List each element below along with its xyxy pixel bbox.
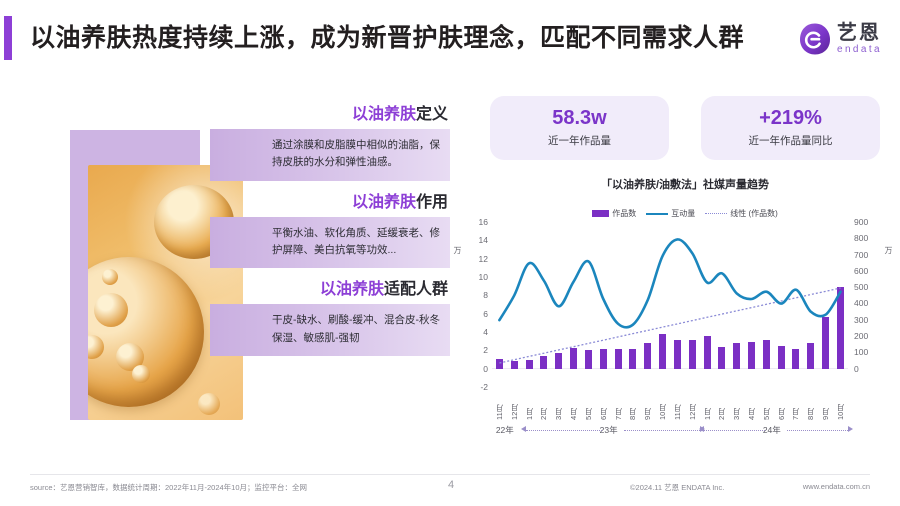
x-tick-label: 6月: [596, 390, 611, 420]
info-block-definition: 以油养肤定义 通过涂膜和皮脂膜中相似的油脂，保持皮肤的水分和弹性油感。: [210, 100, 450, 181]
x-tick-label: 1月: [700, 390, 715, 420]
chart-plot-area: [492, 222, 848, 387]
info-blocks: 以油养肤定义 通过涂膜和皮脂膜中相似的油脂，保持皮肤的水分和弹性油感。 以油养肤…: [210, 100, 450, 363]
y-axis-right-ticks: 9008007006005004003002001000: [850, 222, 876, 387]
title-accent-bar: [4, 16, 12, 60]
logo-text: 艺恩 endata: [837, 23, 882, 55]
x-tick-label: 3月: [729, 390, 744, 420]
x-tick-text: 3月: [553, 390, 564, 420]
arrow-left-icon: [699, 426, 704, 432]
logo-name-cn: 艺恩: [837, 23, 882, 43]
info-block-title: 以油养肤适配人群: [210, 275, 450, 299]
stat-cards: 58.3w 近一年作品量 +219% 近一年作品量同比: [490, 96, 880, 160]
year-band-label: 22年: [496, 424, 514, 436]
line-series-layer: [492, 222, 848, 387]
y-tick-right: 500: [850, 282, 880, 292]
x-tick-text: 11月: [494, 390, 505, 420]
legend-item-line: 互动量: [646, 208, 695, 219]
y-tick-left: 10: [462, 272, 488, 282]
y-tick-left: 8: [462, 290, 488, 300]
x-tick-label: 7月: [789, 390, 804, 420]
x-tick-label: 4月: [566, 390, 581, 420]
x-tick-text: 2月: [538, 390, 549, 420]
endata-logo: 艺恩 endata: [799, 22, 882, 56]
x-tick-text: 2月: [716, 390, 727, 420]
footer: source：艺恩营销智库，数据统计周期：2022年11月-2024年10月；监…: [30, 482, 870, 500]
x-tick-label: 3月: [551, 390, 566, 420]
x-tick-text: 12月: [687, 390, 698, 420]
bubble-decor: [102, 269, 118, 285]
stat-card-yoy-growth: +219% 近一年作品量同比: [701, 96, 880, 160]
y-tick-right: 0: [850, 364, 880, 374]
stat-card-works-volume: 58.3w 近一年作品量: [490, 96, 669, 160]
x-tick-label: 10月: [655, 390, 670, 420]
x-tick-label: 7月: [611, 390, 626, 420]
bubble-decor: [198, 393, 220, 415]
x-tick-text: 1月: [524, 390, 535, 420]
x-tick-text: 3月: [731, 390, 742, 420]
x-tick-label: 8月: [625, 390, 640, 420]
y-tick-right: 600: [850, 266, 880, 276]
year-band-rule: [526, 430, 602, 431]
legend-label: 互动量: [671, 208, 695, 219]
y-tick-right: 700: [850, 250, 880, 260]
interaction-line: [499, 239, 840, 327]
left-pane: 以油养肤定义 通过涂膜和皮脂膜中相似的油脂，保持皮肤的水分和弹性油感。 以油养肤…: [70, 130, 440, 420]
y-tick-left: -2: [462, 382, 488, 392]
y-tick-left: 12: [462, 254, 488, 264]
chart-title: 「以油养肤/油敷法」社媒声量趋势: [490, 176, 880, 192]
slide: 以油养肤热度持续上涨，成为新晋护肤理念，匹配不同需求人群 艺恩 endata: [0, 0, 900, 506]
bubble-decor: [132, 365, 150, 383]
y-tick-right: 800: [850, 233, 880, 243]
arrow-left-icon: [521, 426, 526, 432]
x-tick-text: 6月: [598, 390, 609, 420]
year-band-rule: [704, 430, 765, 431]
page-number: 4: [448, 479, 454, 491]
info-block-body: 干皮-缺水、刷酸-缓冲、混合皮-秋冬保湿、敏感肌-强韧: [210, 304, 450, 356]
x-tick-text: 6月: [776, 390, 787, 420]
x-tick-text: 4月: [568, 390, 579, 420]
logo-name-en: endata: [837, 45, 882, 55]
x-tick-label: 11月: [492, 390, 507, 420]
legend-label: 作品数: [612, 208, 636, 219]
page-title: 以油养肤热度持续上涨，成为新晋护肤理念，匹配不同需求人群: [30, 18, 790, 54]
x-tick-label: 1月: [522, 390, 537, 420]
x-tick-label: 2月: [714, 390, 729, 420]
x-tick-text: 8月: [627, 390, 638, 420]
y-tick-right: 400: [850, 298, 880, 308]
x-tick-text: 7月: [790, 390, 801, 420]
year-band-label: 23年: [600, 424, 618, 436]
info-block-title-highlight: 以油养肤: [352, 194, 416, 211]
footer-copyright: ©2024.11 艺恩 ENDATA Inc.: [630, 482, 724, 493]
x-tick-text: 7月: [613, 390, 624, 420]
x-tick-text: 10月: [835, 390, 846, 420]
y-tick-right: 200: [850, 331, 880, 341]
footer-divider: [30, 474, 870, 475]
x-tick-label: 10月: [833, 390, 848, 420]
x-axis-labels: 11月12月1月2月3月4月5月6月7月8月9月10月11月12月1月2月3月4…: [492, 390, 848, 420]
info-block-body: 通过涂膜和皮脂膜中相似的油脂，保持皮肤的水分和弹性油感。: [210, 129, 450, 181]
legend-dotted-swatch-icon: [705, 213, 727, 214]
info-block-title: 以油养肤作用: [210, 188, 450, 212]
y-tick-left: 6: [462, 309, 488, 319]
x-tick-label: 12月: [507, 390, 522, 420]
y-tick-left: 0: [462, 364, 488, 374]
info-block-audience: 以油养肤适配人群 干皮-缺水、刷酸-缓冲、混合皮-秋冬保湿、敏感肌-强韧: [210, 275, 450, 356]
endata-logo-mark: [799, 22, 831, 56]
year-band-axis: 22年23年24年: [470, 422, 870, 442]
stat-value: 58.3w: [490, 107, 669, 129]
stat-label: 近一年作品量同比: [701, 133, 880, 148]
logo-blob-icon: [799, 22, 831, 56]
year-band-rule: [787, 430, 848, 431]
legend-item-bar: 作品数: [592, 208, 636, 219]
stat-value: +219%: [701, 107, 880, 129]
footer-url: www.endata.com.cn: [803, 482, 870, 491]
info-block-body: 平衡水油、软化角质、延缓衰老、修护屏障、美白抗氧等功效...: [210, 217, 450, 269]
year-band-rule: [624, 430, 700, 431]
x-tick-label: 12月: [685, 390, 700, 420]
x-tick-text: 10月: [657, 390, 668, 420]
info-block-title-highlight: 以油养肤: [320, 281, 384, 298]
y-axis-right-unit: 万: [883, 246, 894, 254]
y-tick-right: 900: [850, 217, 880, 227]
x-tick-text: 4月: [746, 390, 757, 420]
x-tick-text: 9月: [642, 390, 653, 420]
x-tick-label: 4月: [744, 390, 759, 420]
info-block-title-highlight: 以油养肤: [352, 106, 416, 123]
x-tick-text: 1月: [702, 390, 713, 420]
arrow-right-icon: [848, 426, 853, 432]
x-tick-text: 5月: [761, 390, 772, 420]
x-tick-text: 9月: [820, 390, 831, 420]
footer-source: source：艺恩营销智库，数据统计周期：2022年11月-2024年10月；监…: [30, 482, 307, 493]
legend-line-swatch-icon: [646, 213, 668, 215]
x-tick-label: 8月: [803, 390, 818, 420]
info-block-title-rest: 定义: [416, 106, 448, 123]
info-block-title-rest: 作用: [416, 194, 448, 211]
y-axis-left-ticks: 1614121086420-2: [462, 222, 488, 387]
y-tick-right: 100: [850, 347, 880, 357]
x-tick-text: 8月: [805, 390, 816, 420]
x-tick-text: 11月: [672, 390, 683, 420]
trend-line: [499, 288, 840, 363]
y-tick-left: 14: [462, 235, 488, 245]
y-tick-right: 300: [850, 315, 880, 325]
social-volume-chart: 万 万 1614121086420-2 90080070060050040030…: [452, 222, 900, 412]
bubble-decor: [94, 293, 128, 327]
x-tick-label: 5月: [581, 390, 596, 420]
info-block-title: 以油养肤定义: [210, 100, 450, 124]
x-tick-label: 2月: [536, 390, 551, 420]
legend-bar-swatch-icon: [592, 210, 609, 217]
legend-item-trend: 线性 (作品数): [705, 208, 778, 219]
info-block-effects: 以油养肤作用 平衡水油、软化角质、延缓衰老、修护屏障、美白抗氧等功效...: [210, 188, 450, 269]
x-tick-label: 6月: [774, 390, 789, 420]
info-block-title-rest: 适配人群: [384, 281, 448, 298]
x-tick-label: 11月: [670, 390, 685, 420]
x-tick-text: 12月: [509, 390, 520, 420]
x-tick-label: 5月: [759, 390, 774, 420]
x-tick-label: 9月: [640, 390, 655, 420]
year-band-label: 24年: [763, 424, 781, 436]
stat-label: 近一年作品量: [490, 133, 669, 148]
x-tick-label: 9月: [818, 390, 833, 420]
legend-label: 线性 (作品数): [730, 208, 778, 219]
chart-legend: 作品数 互动量 线性 (作品数): [490, 208, 880, 219]
y-tick-left: 16: [462, 217, 488, 227]
x-tick-text: 5月: [583, 390, 594, 420]
y-tick-left: 2: [462, 345, 488, 355]
y-tick-left: 4: [462, 327, 488, 337]
